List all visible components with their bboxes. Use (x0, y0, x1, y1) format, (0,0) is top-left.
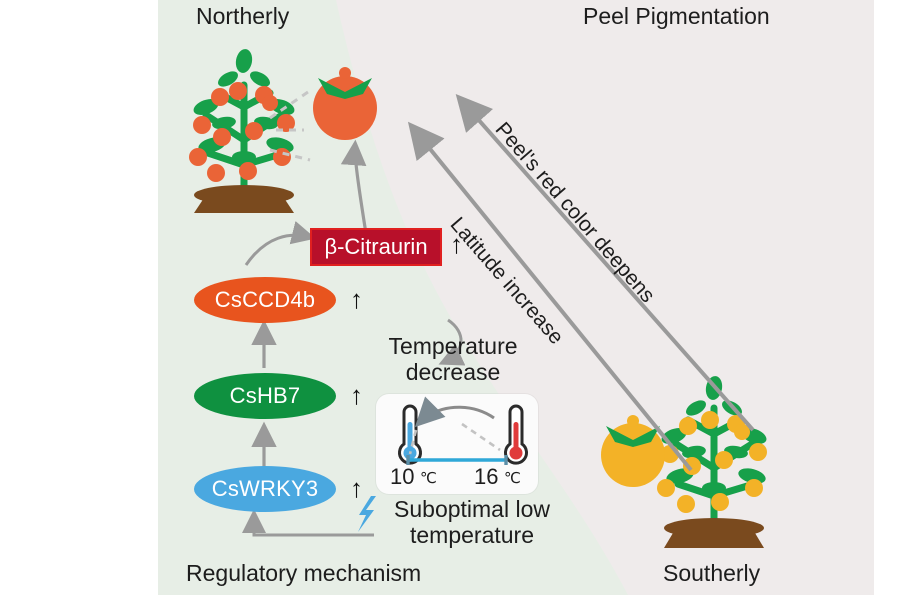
gene-node-cswrky3[interactable]: CsWRKY3 (194, 466, 336, 512)
arrow-ccd4b-to-citraurin (246, 235, 310, 265)
arrow-temp-drop (420, 412, 434, 422)
thermometer-hot-icon (506, 406, 527, 463)
beta-citraurin-trend-arrow: ↑ (450, 231, 463, 257)
diagram-panel: Northerly Peel Pigmentation Regulatory m… (158, 0, 874, 595)
gene-node-cshb7[interactable]: CsHB7 (194, 373, 336, 419)
temp-cold-value: 10 (390, 464, 414, 490)
cshb7-trend-arrow: ↑ (350, 382, 363, 408)
label-suboptimal-low-temperature: Suboptimal low temperature (386, 497, 558, 549)
temp-hot-unit: ℃ (504, 469, 521, 487)
label-temperature-decrease: Temperature decrease (388, 334, 518, 386)
thermometer-cold-icon (400, 406, 421, 463)
gene-label-csccd4b: CsCCD4b (215, 287, 315, 313)
lightning-bolt-icon (354, 496, 384, 532)
thermometer-panel: 10 ℃ 16 ℃ (376, 394, 538, 494)
gene-node-csccd4b[interactable]: CsCCD4b (194, 277, 336, 323)
temp-hot-value: 16 (474, 464, 498, 490)
gene-label-cswrky3: CsWRKY3 (212, 476, 319, 502)
beta-citraurin-box[interactable]: β-Citraurin (310, 228, 442, 266)
gene-label-cshb7: CsHB7 (230, 383, 301, 409)
beta-citraurin-label: β-Citraurin (324, 234, 427, 260)
figure-canvas: Northerly Peel Pigmentation Regulatory m… (0, 0, 916, 595)
temp-cold-unit: ℃ (420, 469, 437, 487)
csccd4b-trend-arrow: ↑ (350, 286, 363, 312)
